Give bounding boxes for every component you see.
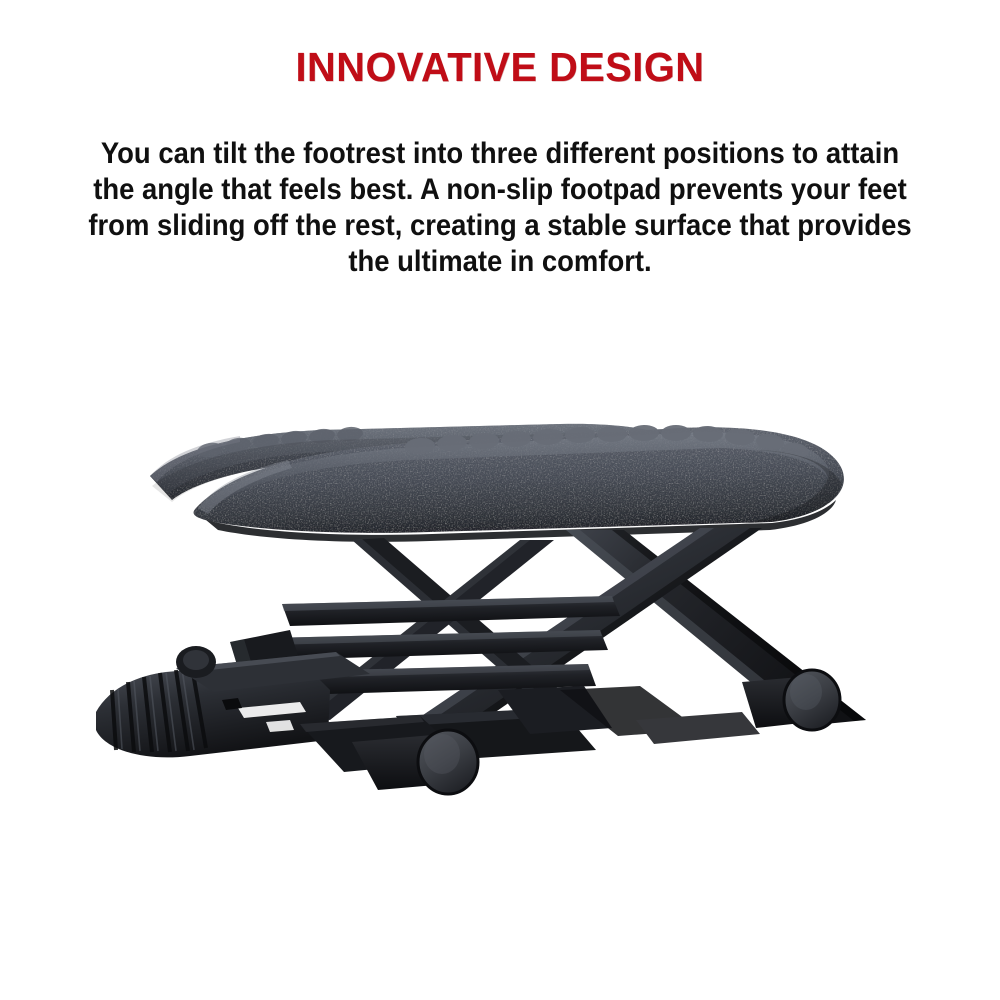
description-paragraph: You can tilt the footrest into three dif… — [82, 136, 919, 280]
description-line: You can tilt the footrest into three dif… — [82, 136, 919, 172]
description-line: from sliding off the rest, creating a st… — [82, 208, 919, 244]
description-line: the angle that feels best. A non-slip fo… — [82, 172, 919, 208]
footrest-illustration — [0, 390, 1000, 820]
page-title: INNOVATIVE DESIGN — [15, 44, 985, 91]
description-line: the ultimate in comfort. — [82, 244, 919, 280]
product-photo — [0, 390, 1000, 820]
product-feature-card: INNOVATIVE DESIGN You can tilt the footr… — [0, 0, 1000, 1000]
